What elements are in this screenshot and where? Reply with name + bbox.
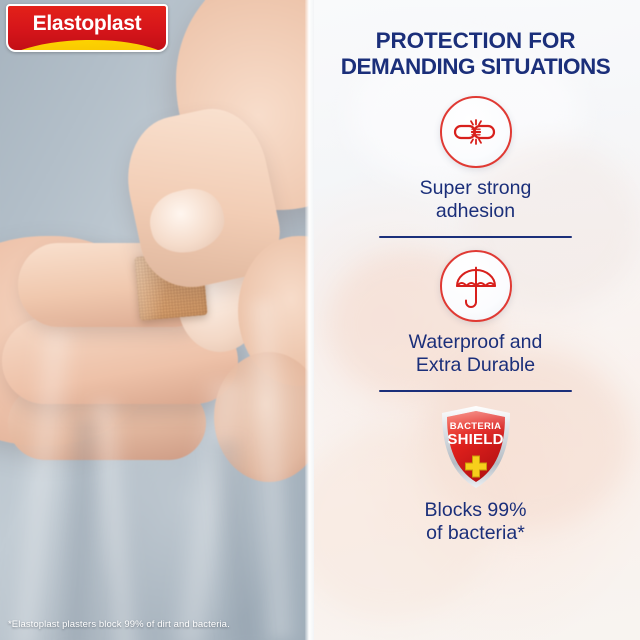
feature-label-line-1: Super strong xyxy=(420,177,532,200)
feature-separator xyxy=(379,236,572,238)
feature-label: Super strong adhesion xyxy=(420,177,532,223)
feature-icon-wrap xyxy=(440,250,512,322)
feature-separator xyxy=(379,390,572,392)
elastoplast-logo: Elastoplast xyxy=(6,4,168,52)
headline-line-1: PROTECTION FOR xyxy=(311,28,640,54)
feature-waterproof-extra-durable: Waterproof and Extra Durable xyxy=(311,250,640,377)
promo-image: Elastoplast *Elastoplast plasters block … xyxy=(0,0,640,640)
feature-icon-wrap: BACTERIA SHIELD xyxy=(438,404,514,490)
feature-list: Super strong adhesion xyxy=(311,96,640,545)
logo-yellow-swoosh xyxy=(6,38,168,52)
umbrella-icon xyxy=(440,250,512,322)
feature-label-line-2: of bacteria* xyxy=(425,522,527,545)
feature-label-line-1: Waterproof and xyxy=(409,331,543,354)
feature-icon-wrap xyxy=(440,96,512,168)
panel-divider xyxy=(305,0,314,640)
feature-blocks-bacteria: BACTERIA SHIELD Blocks 99% of bacteria* xyxy=(311,404,640,545)
feature-label-line-2: adhesion xyxy=(420,200,532,223)
feature-label-line-2: Extra Durable xyxy=(409,354,543,377)
headline: PROTECTION FOR DEMANDING SITUATIONS xyxy=(311,28,640,80)
broken-chain-link-icon xyxy=(440,96,512,168)
bacteria-shield-badge-icon: BACTERIA SHIELD xyxy=(438,404,514,490)
claims-panel: PROTECTION FOR DEMANDING SITUATIONS xyxy=(311,0,640,640)
footnote-disclaimer: *Elastoplast plasters block 99% of dirt … xyxy=(0,619,311,640)
product-photo-panel xyxy=(0,0,311,640)
logo-wordmark: Elastoplast xyxy=(6,12,168,36)
feature-super-strong-adhesion: Super strong adhesion xyxy=(311,96,640,223)
feature-label: Blocks 99% of bacteria* xyxy=(425,499,527,545)
feature-label-line-1: Blocks 99% xyxy=(425,499,527,522)
feature-label: Waterproof and Extra Durable xyxy=(409,331,543,377)
headline-line-2: DEMANDING SITUATIONS xyxy=(311,54,640,80)
